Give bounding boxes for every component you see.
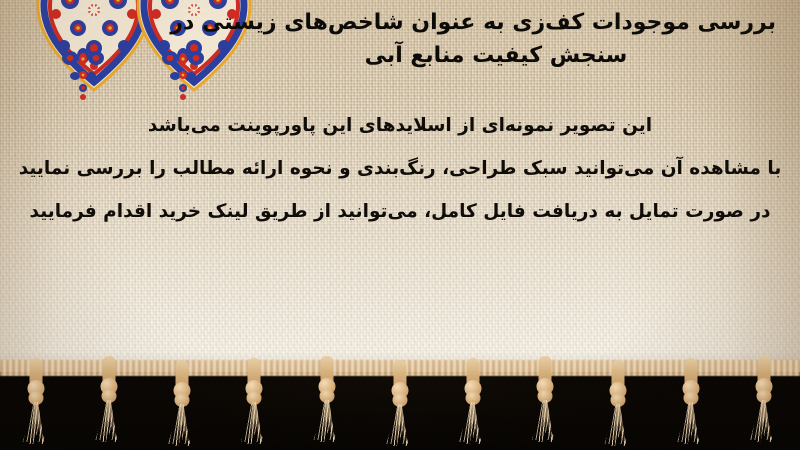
fringe-tassel [582,360,655,450]
carpet-pendant-ornament-left [60,48,106,104]
slide-body-line-3: در صورت تمایل به دریافت فایل کامل، می‌تو… [0,190,800,233]
fringe-tassel [364,360,437,450]
presentation-slide: بررسی موجودات کف‌زی به عنوان شاخص‌های زی… [0,0,800,450]
slide-title-line-2: سنجش کیفیت منابع آبی [216,39,776,72]
slide-title-line-1: بررسی موجودات کف‌زی به عنوان شاخص‌های زی… [216,6,776,39]
fringe-tassel [0,358,73,450]
slide-body: این تصویر نمونه‌ای از اسلایدهای این پاور… [0,104,800,233]
slide-body-line-1: این تصویر نمونه‌ای از اسلایدهای این پاور… [0,104,800,147]
fringe-tassel [73,356,146,448]
fringe-tassel [218,358,291,450]
slide-title: بررسی موجودات کف‌زی به عنوان شاخص‌های زی… [216,6,776,72]
fringe-tassel [291,356,364,448]
fringe-tassel [436,358,509,450]
carpet-pendant-ornament-right [160,48,206,104]
slide-body-line-2: با مشاهده آن می‌توانید سبک طراحی، رنگ‌بن… [0,147,800,190]
fringe-tassel [509,356,582,448]
fringe-tassel [727,356,800,448]
carpet-fringe [0,358,800,450]
fringe-tassel [655,358,728,450]
fringe-tassel [145,360,218,450]
